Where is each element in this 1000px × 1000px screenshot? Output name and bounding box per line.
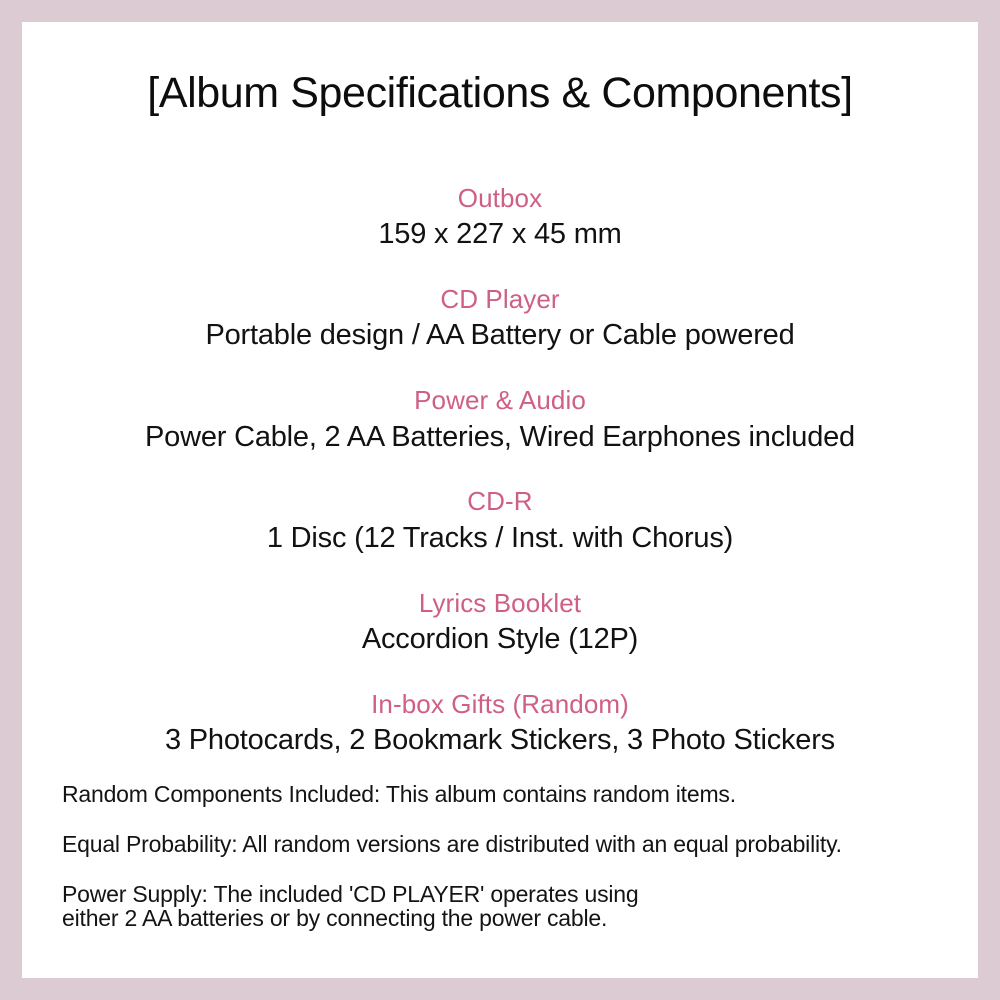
spec-label: Outbox [22, 182, 978, 215]
note-random-components: Random Components Included: This album c… [62, 782, 952, 807]
album-spec-page: [Album Specifications & Components] Outb… [0, 0, 1000, 1000]
spec-label: In-box Gifts (Random) [22, 688, 978, 721]
note-line: Power Supply: The included 'CD PLAYER' o… [62, 882, 952, 907]
spec-label: CD-R [22, 485, 978, 518]
spec-value: 3 Photocards, 2 Bookmark Stickers, 3 Pho… [22, 721, 978, 760]
spec-label: CD Player [22, 283, 978, 316]
spec-label: Power & Audio [22, 384, 978, 417]
note-power-supply: Power Supply: The included 'CD PLAYER' o… [62, 882, 952, 932]
spec-row-in-box-gifts: In-box Gifts (Random) 3 Photocards, 2 Bo… [22, 688, 978, 760]
spec-value: 159 x 227 x 45 mm [22, 215, 978, 254]
spec-value: 1 Disc (12 Tracks / Inst. with Chorus) [22, 519, 978, 558]
spec-row-lyrics-booklet: Lyrics Booklet Accordion Style (12P) [22, 587, 978, 659]
spec-row-cd-player: CD Player Portable design / AA Battery o… [22, 283, 978, 355]
notes-section: Random Components Included: This album c… [62, 782, 952, 931]
note-line: Random Components Included: This album c… [62, 782, 952, 807]
spec-label: Lyrics Booklet [22, 587, 978, 620]
note-line: Equal Probability: All random versions a… [62, 832, 952, 857]
spec-row-cd-r: CD-R 1 Disc (12 Tracks / Inst. with Chor… [22, 485, 978, 557]
note-line: either 2 AA batteries or by connecting t… [62, 906, 952, 931]
spec-row-power-audio: Power & Audio Power Cable, 2 AA Batterie… [22, 384, 978, 456]
spec-value: Power Cable, 2 AA Batteries, Wired Earph… [22, 418, 978, 457]
page-title: [Album Specifications & Components] [22, 69, 978, 118]
spec-value: Accordion Style (12P) [22, 620, 978, 659]
spec-list: Outbox 159 x 227 x 45 mm CD Player Porta… [22, 182, 978, 760]
note-equal-probability: Equal Probability: All random versions a… [62, 832, 952, 857]
spec-value: Portable design / AA Battery or Cable po… [22, 316, 978, 355]
spec-row-outbox: Outbox 159 x 227 x 45 mm [22, 182, 978, 254]
spec-card: [Album Specifications & Components] Outb… [22, 22, 978, 978]
